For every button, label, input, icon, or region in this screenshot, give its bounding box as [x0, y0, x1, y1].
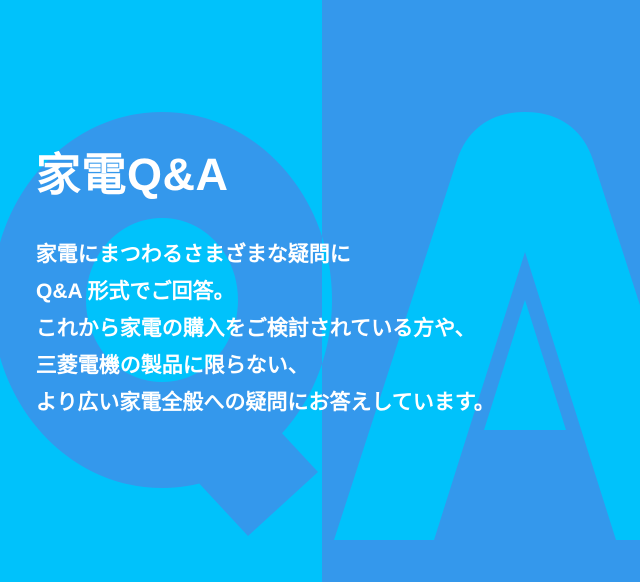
description-line: 家電にまつわるさまざまな疑問に: [36, 236, 495, 273]
banner-description: 家電にまつわるさまざまな疑問に Q&A 形式でご回答。 これから家電の購入をご検…: [36, 236, 495, 421]
description-line: Q&A 形式でご回答。: [36, 273, 495, 310]
description-line: より広い家電全般への疑問にお答えしています。: [36, 384, 495, 421]
description-line: これから家電の購入をご検討されている方や、: [36, 310, 495, 347]
banner-content: 家電Q&A 家電にまつわるさまざまな疑問に Q&A 形式でご回答。 これから家電…: [36, 0, 616, 582]
page-title: 家電Q&A: [36, 152, 229, 197]
description-line: 三菱電機の製品に限らない、: [36, 347, 495, 384]
qa-hero-banner: 家電Q&A 家電にまつわるさまざまな疑問に Q&A 形式でご回答。 これから家電…: [0, 0, 640, 582]
